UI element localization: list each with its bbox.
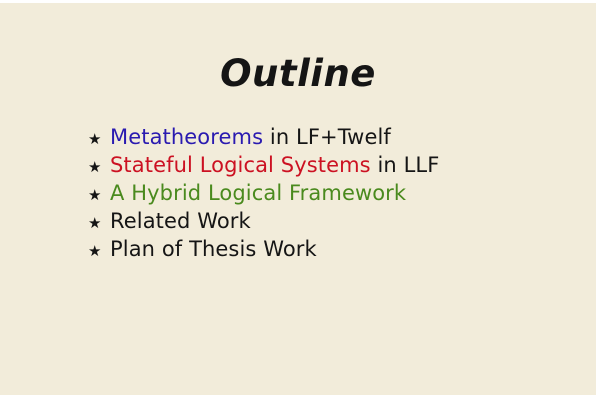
bullet-item-stateful-logical-systems: ★ Stateful Logical Systems in LLF <box>88 151 568 179</box>
bullet-accent-text: A Hybrid Logical Framework <box>110 181 406 205</box>
bullet-plain-text: in LF+Twelf <box>263 125 391 149</box>
bullet-item-text: Plan of Thesis Work <box>110 235 317 263</box>
bullet-item-related-work: ★ Related Work <box>88 207 568 235</box>
star-bullet-icon: ★ <box>88 125 110 153</box>
star-bullet-icon: ★ <box>88 153 110 181</box>
star-bullet-icon: ★ <box>88 209 110 237</box>
outline-bullet-list: ★ Metatheorems in LF+Twelf ★ Stateful Lo… <box>88 123 568 263</box>
bullet-item-text: Stateful Logical Systems in LLF <box>110 151 439 179</box>
bullet-item-text: A Hybrid Logical Framework <box>110 179 406 207</box>
bullet-item-text: Metatheorems in LF+Twelf <box>110 123 391 151</box>
star-bullet-icon: ★ <box>88 237 110 265</box>
bullet-item-text: Related Work <box>110 207 251 235</box>
bullet-item-hybrid-logical-framework: ★ A Hybrid Logical Framework <box>88 179 568 207</box>
bullet-accent-text: Related Work <box>110 209 251 233</box>
bullet-accent-text: Plan of Thesis Work <box>110 237 317 261</box>
bullet-accent-text: Metatheorems <box>110 125 263 149</box>
presentation-slide: Outline ★ Metatheorems in LF+Twelf ★ Sta… <box>0 3 596 395</box>
bullet-accent-text: Stateful Logical Systems <box>110 153 371 177</box>
bullet-plain-text: in LLF <box>371 153 440 177</box>
bullet-item-plan-of-thesis-work: ★ Plan of Thesis Work <box>88 235 568 263</box>
star-bullet-icon: ★ <box>88 181 110 209</box>
slide-title: Outline <box>0 55 596 92</box>
bullet-item-metatheorems: ★ Metatheorems in LF+Twelf <box>88 123 568 151</box>
